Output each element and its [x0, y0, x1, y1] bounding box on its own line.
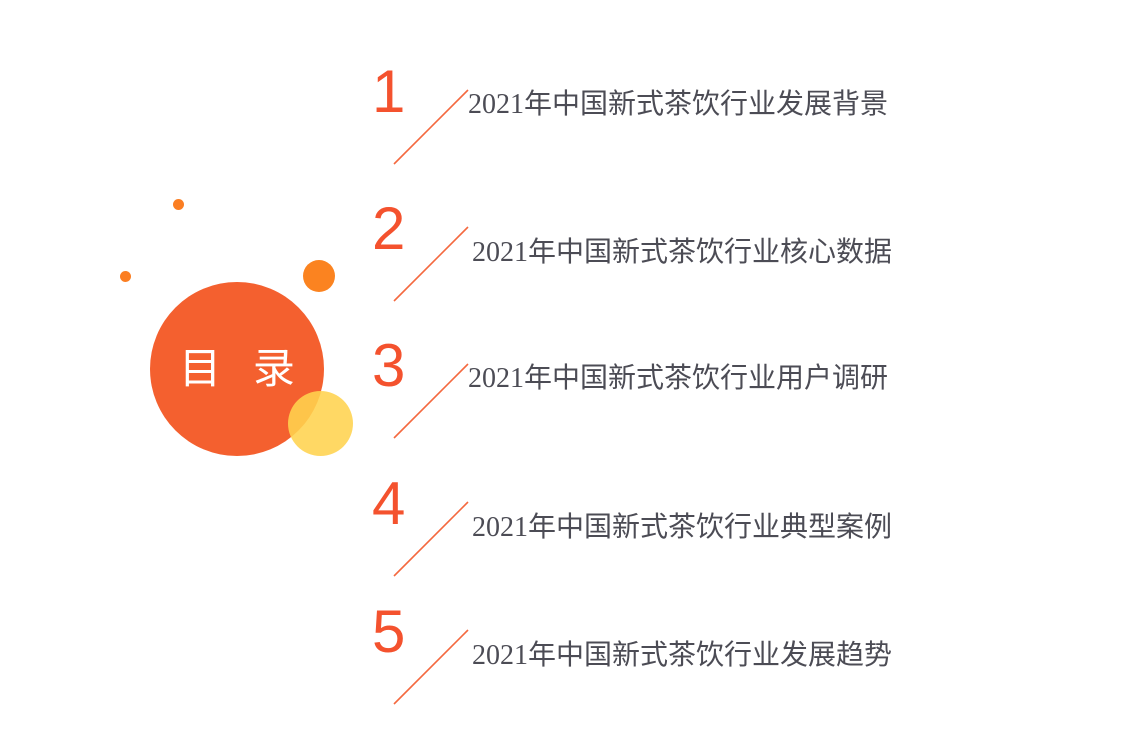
toc-item-2[interactable]: 2 2021年中国新式茶饮行业核心数据: [372, 199, 932, 319]
toc-item-3[interactable]: 3 2021年中国新式茶饮行业用户调研: [372, 336, 932, 456]
toc-item-2-title: 2021年中国新式茶饮行业核心数据: [472, 239, 892, 267]
toc-item-4[interactable]: 4 2021年中国新式茶饮行业典型案例: [372, 474, 932, 594]
toc-item-3-title: 2021年中国新式茶饮行业用户调研: [468, 365, 888, 393]
toc-item-4-title: 2021年中国新式茶饮行业典型案例: [472, 514, 892, 542]
toc-item-5-title: 2021年中国新式茶饮行业发展趋势: [472, 642, 892, 670]
toc-item-1[interactable]: 1 2021年中国新式茶饮行业发展背景: [372, 62, 932, 182]
slide-canvas: 目 录 1 2021年中国新式茶饮行业发展背景 2 2021年中国新式茶饮行业核…: [0, 0, 1134, 756]
toc-item-1-title: 2021年中国新式茶饮行业发展背景: [468, 91, 888, 119]
toc-item-5[interactable]: 5 2021年中国新式茶饮行业发展趋势: [372, 602, 932, 722]
table-of-contents: 1 2021年中国新式茶饮行业发展背景 2 2021年中国新式茶饮行业核心数据 …: [0, 0, 1134, 756]
